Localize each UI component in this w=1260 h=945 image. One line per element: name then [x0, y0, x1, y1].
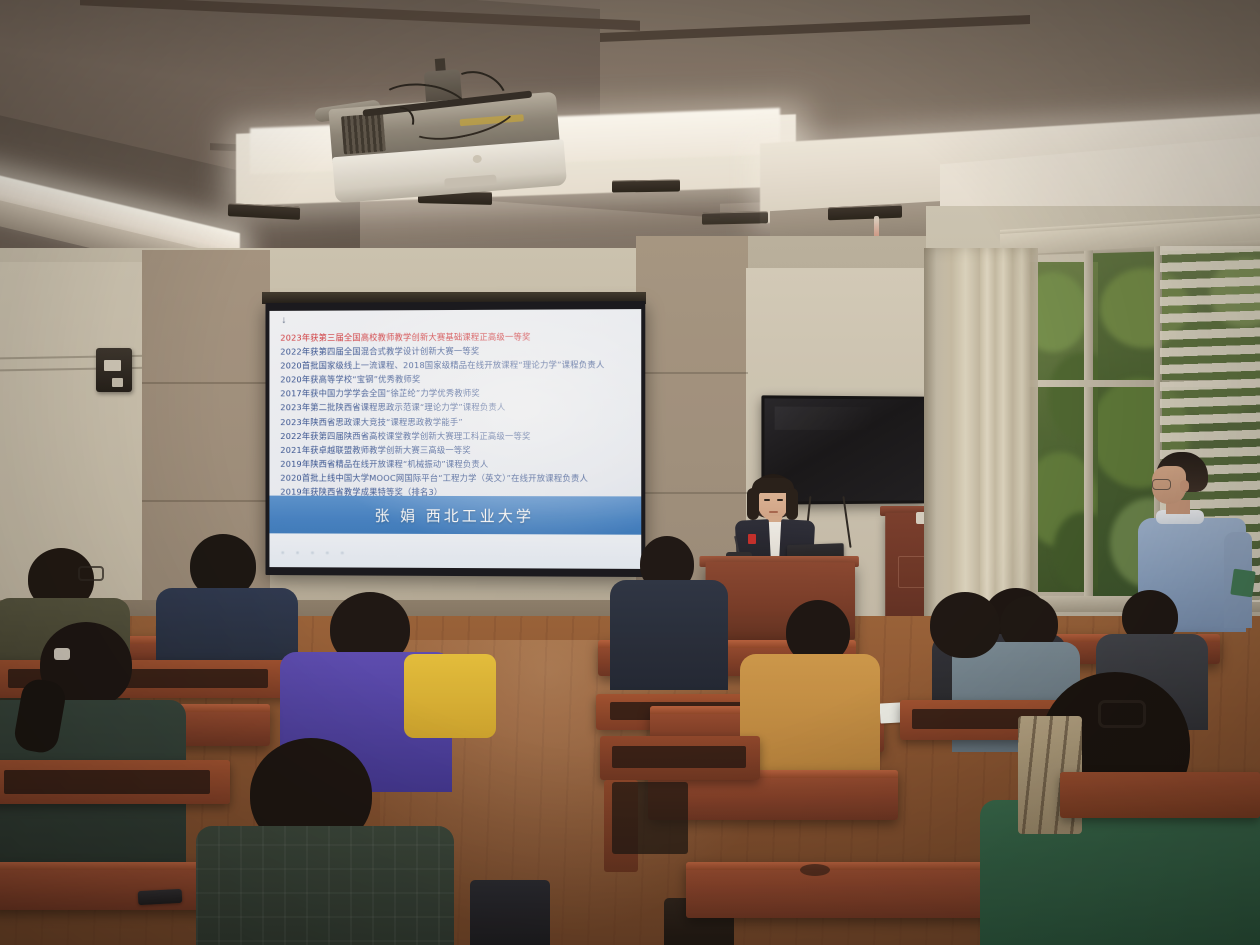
curtain[interactable] — [980, 248, 1038, 632]
glasses-icon — [1098, 700, 1146, 728]
bench-shadow — [612, 782, 688, 854]
slide-surface: ↓ 2023年获第三届全国高校教师教学创新大赛基础课程正高级一等奖2022年获第… — [269, 309, 641, 569]
desk-grommet — [800, 864, 830, 876]
slide-line: 2023年第二批陕西省课程思政示范课“理论力学”课程负责人 — [280, 400, 636, 415]
slide-line: 2022年获第四届全国混合式教学设计创新大赛一等奖 — [280, 343, 636, 358]
slide-footer: ▫ ▫ ▫ ▫ ▫ — [269, 533, 641, 569]
slide-text-block: 2023年获第三届全国高校教师教学创新大赛基础课程正高级一等奖2022年获第四届… — [280, 329, 636, 514]
slide-line: 2019年陕西省精品在线开放课程“机械振动”课程负责人 — [280, 457, 636, 471]
attendee-body — [610, 580, 728, 690]
standing-attendee-ear — [1180, 480, 1189, 492]
handheld-object — [1230, 569, 1255, 598]
bench-edge — [0, 862, 220, 870]
slide-cursor-icon: ↓ — [281, 315, 291, 327]
slide-presenter-name: 张 娟 西北工业大学 — [269, 496, 641, 535]
bench-back — [600, 736, 760, 780]
slide-line: 2020年获高等学校“宝钢”优秀教师奖 — [280, 372, 636, 387]
slide-footer-icons: ▫ ▫ ▫ ▫ ▫ — [281, 548, 348, 557]
tv-reflection — [774, 407, 870, 430]
presenter-eye — [764, 499, 770, 501]
bench-desk — [0, 862, 220, 910]
window-mullion — [1084, 248, 1093, 610]
bench-back — [1060, 772, 1260, 818]
slide-line: 2023年获第三届全国高校教师教学创新大赛基础课程正高级一等奖 — [280, 329, 636, 345]
hair-clip — [54, 648, 70, 660]
slide-line: 2022年获第四届陕西省高校课堂教学创新大赛理工科正高级一等奖 — [280, 429, 636, 443]
air-vent-icon — [612, 179, 680, 192]
presenter-badge — [748, 534, 756, 544]
attendee-body — [740, 654, 880, 780]
presenter-eye — [777, 499, 783, 501]
presenter-hair-side — [747, 488, 759, 520]
wall-seam — [636, 372, 748, 374]
bag — [470, 880, 550, 945]
curtain-shadow — [924, 248, 950, 646]
attendee-yellow-garment — [404, 654, 496, 738]
slide-line: 2021年获卓越联盟教师教学创新大赛三高级一等奖 — [280, 443, 636, 457]
attendee-body — [196, 826, 454, 945]
presenter-mouth — [769, 511, 778, 513]
slide-line: 2020首批国家级线上一流课程、2018国家级精品在线开放课程“理论力学”课程负… — [280, 358, 636, 373]
bench-back — [0, 760, 230, 804]
glasses-icon — [1152, 479, 1171, 490]
slide-line: 2017年获中国力学学会全国“徐芷纶”力学优秀教师奖 — [280, 386, 636, 401]
slide-line: 2023年陕西省思政课大竞技“课程思政教学能手” — [280, 414, 636, 428]
wall-seam — [142, 382, 272, 384]
control-panel-display — [104, 360, 121, 371]
air-vent-icon — [828, 205, 902, 221]
bench-inset — [4, 770, 210, 794]
slide-line: 2020首批上线中国大学MOOC网国际平台“工程力学（英文）”在线开放课程负责人 — [280, 471, 636, 486]
bench-inset — [612, 746, 746, 768]
control-panel-button[interactable] — [112, 378, 123, 387]
air-vent-icon — [702, 211, 768, 224]
slide-banner: 张 娟 西北工业大学 — [269, 496, 641, 535]
ceiling-projector — [315, 50, 584, 200]
presenter-hair-side — [786, 488, 798, 520]
wall-seam — [142, 500, 272, 502]
lecture-hall-photo: ↓ 2023年获第三届全国高校教师教学创新大赛基础课程正高级一等奖2022年获第… — [0, 0, 1260, 945]
glasses-icon — [78, 566, 104, 581]
attendee-head — [930, 592, 1000, 658]
mobile-phone[interactable] — [138, 889, 183, 905]
projection-screen: ↓ 2023年获第三届全国高校教师教学创新大赛基础课程正高级一等奖2022年获第… — [266, 301, 646, 577]
